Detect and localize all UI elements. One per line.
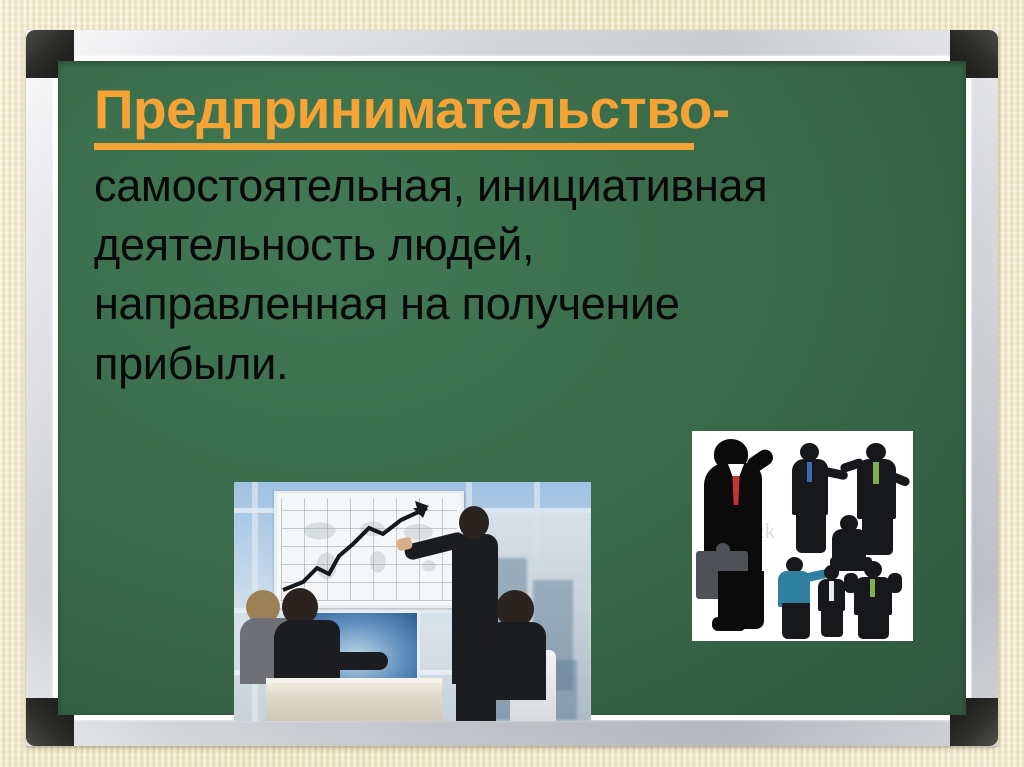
silhouette-g-arm-right xyxy=(888,573,902,593)
presenter-head xyxy=(459,506,489,539)
silhouette-b-tie xyxy=(807,462,812,482)
definition-line-3: направленная на получение xyxy=(94,274,938,333)
definition-line-2: деятельность людей, xyxy=(94,215,938,274)
silhouette-main-shoe xyxy=(712,617,746,631)
definition-text-block: Предпринимательство- самостоятельная, ин… xyxy=(94,79,938,393)
audience-body-3 xyxy=(482,622,546,700)
silhouette-f-tie xyxy=(829,581,834,601)
silhouette-g-tie xyxy=(870,579,875,597)
slide-canvas: Предпринимательство- самостоятельная, ин… xyxy=(0,0,1024,767)
chalkboard-surface: Предпринимательство- самостоятельная, ин… xyxy=(58,61,966,715)
chalkboard-frame: Предпринимательство- самостоятельная, ин… xyxy=(26,30,998,746)
silhouette-c-legs xyxy=(862,515,893,555)
businessmen-silhouettes-clipart: istock xyxy=(692,431,913,641)
conference-table xyxy=(266,678,442,721)
silhouette-briefcase-handle xyxy=(716,543,730,555)
silhouette-c-tie xyxy=(873,462,879,484)
business-presentation-photo xyxy=(234,482,591,721)
term-title: Предпринимательство- xyxy=(94,79,694,150)
definition-line-1: самостоятельная, инициативная xyxy=(94,156,938,215)
silhouette-f-head xyxy=(824,565,839,580)
audience-body-2 xyxy=(274,620,340,684)
silhouette-b-legs xyxy=(796,511,826,553)
definition-line-4: прибыли. xyxy=(94,334,938,393)
silhouette-g-head xyxy=(864,561,882,578)
silhouette-g-arm-left xyxy=(844,573,858,593)
audience-arm-2 xyxy=(330,652,388,670)
silhouette-g-legs xyxy=(858,611,889,639)
silhouette-e-legs xyxy=(782,603,810,639)
silhouette-f-legs xyxy=(821,608,843,637)
